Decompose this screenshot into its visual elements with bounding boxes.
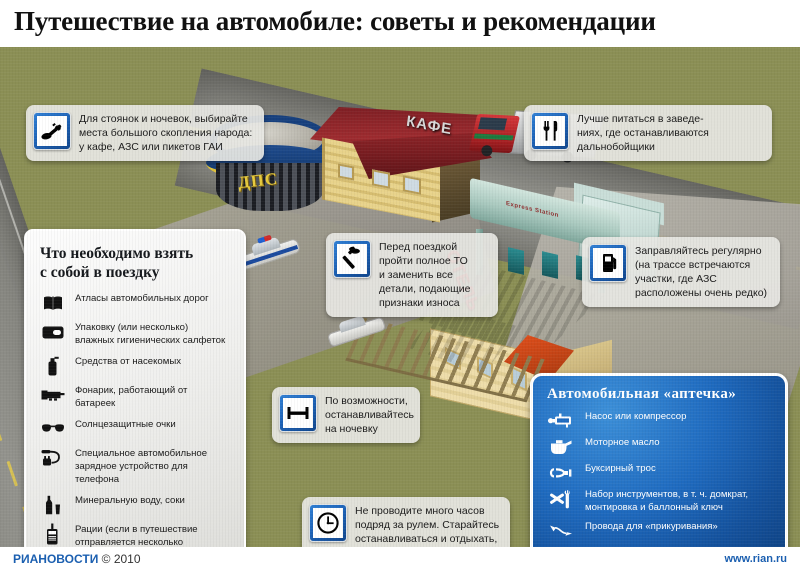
tools-icon xyxy=(547,489,575,508)
sunglasses-icon xyxy=(40,419,66,439)
footer: РИАНОВОСТИ © 2010 www.rian.ru xyxy=(0,547,800,575)
dps-label: ДПС xyxy=(237,169,279,193)
tow-rope-icon xyxy=(547,463,575,482)
list-item-label: Минеральную воду, соки xyxy=(75,495,185,508)
list-item: Насос или компрессор xyxy=(547,411,773,430)
list-item-label: Буксирный трос xyxy=(585,463,656,476)
oil-can-icon xyxy=(547,437,575,456)
callout-text: Для стоянок и ночевок, выбирайте места б… xyxy=(79,112,252,154)
list-item-label: Рации (если в путешествие отправляется н… xyxy=(75,524,198,547)
callout-text: Лучше питаться в заведе- ниях, где остан… xyxy=(577,112,709,154)
air-pump-icon xyxy=(547,411,575,430)
bed-icon xyxy=(283,398,313,428)
sign-plate xyxy=(309,504,347,542)
panel-car-kit: Автомобильная «аптечка» Насос или компре… xyxy=(530,373,788,547)
list-item-label: Набор инструментов, в т. ч. домкрат, мон… xyxy=(585,489,748,514)
callout-text: Перед поездкой пройти полное ТО и замени… xyxy=(379,240,470,310)
sign-plate xyxy=(531,112,569,150)
spray-can-icon xyxy=(40,356,66,376)
list-item-label: Атласы автомобильных дорог xyxy=(75,293,209,306)
traffic-baton-icon xyxy=(37,116,67,146)
cafe-window xyxy=(403,175,421,194)
list-item-label: Упаковку (или несколько) влажных гигиени… xyxy=(75,322,225,347)
list-item: Солнцезащитные очки xyxy=(40,419,232,439)
panel-title: Что необходимо взять с собой в поездку xyxy=(40,244,232,282)
brand-ria: РИА xyxy=(13,552,38,566)
list-item-label: Провода для «прикуривания» xyxy=(585,521,718,534)
cafe-window xyxy=(372,169,390,188)
website-url[interactable]: www.rian.ru xyxy=(724,553,787,565)
list-item: Набор инструментов, в т. ч. домкрат, мон… xyxy=(547,489,773,514)
jumper-cables-icon xyxy=(547,521,575,540)
list-item: Буксирный трос xyxy=(547,463,773,482)
list-item-label: Моторное масло xyxy=(585,437,660,450)
callout-text: Заправляйтесь регулярно (на трассе встре… xyxy=(635,244,767,300)
sign-plate xyxy=(589,244,627,282)
wrench-icon xyxy=(337,244,367,274)
list-item: Фонарик, работающий от батареек xyxy=(40,385,232,410)
bottle-icon xyxy=(40,495,66,515)
header: Путешествие на автомобиле: советы и реко… xyxy=(0,0,800,47)
list-item: Моторное масло xyxy=(547,437,773,456)
callout-rest: Не проводите много часов подряд за рулем… xyxy=(302,497,510,547)
callout-parking: Для стоянок и ночевок, выбирайте места б… xyxy=(26,105,264,161)
callout-service: Перед поездкой пройти полное ТО и замени… xyxy=(326,233,498,317)
cafe-window xyxy=(338,163,354,180)
brand-novosti: НОВОСТИ xyxy=(38,552,98,566)
callout-food: Лучше питаться в заведе- ниях, где остан… xyxy=(524,105,772,161)
panel-title: Автомобильная «аптечка» xyxy=(547,386,773,403)
list-item: Рации (если в путешествие отправляется н… xyxy=(40,524,232,547)
infographic-page: Путешествие на автомобиле: советы и реко… xyxy=(0,0,800,575)
sign-plate xyxy=(333,240,371,278)
list-item-label: Насос или компрессор xyxy=(585,411,686,424)
list-item-label: Солнцезащитные очки xyxy=(75,419,176,432)
fork-knife-icon xyxy=(535,116,565,146)
callout-text: По возможности, останавливайтесь на ноче… xyxy=(325,394,414,436)
clock-icon xyxy=(313,508,343,538)
list-item: Провода для «прикуривания» xyxy=(547,521,773,540)
callout-text: Не проводите много часов подряд за рулем… xyxy=(355,504,501,547)
flashlight-icon xyxy=(40,385,66,405)
fuel-pump-icon xyxy=(593,248,623,278)
sign-plate xyxy=(33,112,71,150)
list-item-label: Специальное автомобильное зарядное устро… xyxy=(75,448,207,486)
callout-fuel: Заправляйтесь регулярно (на трассе встре… xyxy=(582,237,780,307)
car-charger-icon xyxy=(40,448,66,468)
truck-windshield xyxy=(478,117,507,130)
list-item: Специальное автомобильное зарядное устро… xyxy=(40,448,232,486)
illustration-scene: ДПС КАФЕ Express Stat xyxy=(0,47,800,547)
callout-night: По возможности, останавливайтесь на ноче… xyxy=(272,387,420,443)
list-item: Средства от насекомых xyxy=(40,356,232,376)
page-title: Путешествие на автомобиле: советы и реко… xyxy=(14,6,656,37)
list-item-label: Фонарик, работающий от батареек xyxy=(75,385,187,410)
list-item: Упаковку (или несколько) влажных гигиени… xyxy=(40,322,232,347)
wet-wipes-icon xyxy=(40,322,66,342)
atlas-book-icon xyxy=(40,293,66,313)
walkie-talkie-icon xyxy=(40,524,66,544)
sign-plate xyxy=(279,394,317,432)
panel-what-to-take: Что необходимо взять с собой в поездку А… xyxy=(24,229,246,547)
copyright: © 2010 xyxy=(98,552,140,566)
brand-logo: РИАНОВОСТИ © 2010 xyxy=(13,552,141,566)
list-item: Атласы автомобильных дорог xyxy=(40,293,232,313)
list-item-label: Средства от насекомых xyxy=(75,356,181,369)
list-item: Минеральную воду, соки xyxy=(40,495,232,515)
